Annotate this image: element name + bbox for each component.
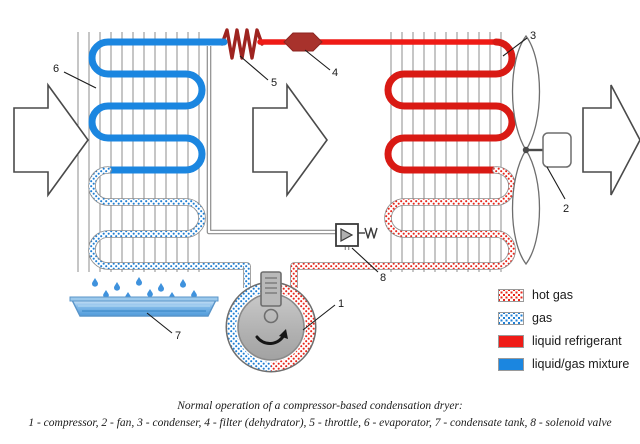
legend-item-hot-gas: hot gas [498,286,640,305]
callout-6: 6 [53,63,96,88]
legend-swatch-liquid-refrigerant [498,335,524,348]
legend-item-gas: gas [498,309,640,328]
caption-line-2: 1 - compressor, 2 - fan, 3 - condenser, … [0,415,640,432]
fan [513,36,572,264]
callout-2: 2 [547,167,569,215]
legend-label-hot-gas: hot gas [532,289,573,302]
callout-label-6: 6 [53,63,59,75]
legend-label-gas: gas [532,312,552,325]
airflow-arrow-inlet [14,85,88,195]
condensate-tank [70,297,218,316]
callout-7: 7 [147,313,181,342]
caption-line-1: Normal operation of a compressor-based c… [0,398,640,415]
airflow-arrow-outlet [583,85,640,195]
callout-4: 4 [305,50,338,79]
legend-label-liquid-gas-mixture: liquid/gas mixture [532,358,629,371]
legend-label-liquid-refrigerant: liquid refrigerant [532,335,622,348]
caption: Normal operation of a compressor-based c… [0,398,640,432]
callout-label-3: 3 [530,30,536,42]
callout-label-5: 5 [271,77,277,89]
legend-item-liquid-refrigerant: liquid refrigerant [498,332,640,351]
legend-swatch-liquid-gas-mixture [498,358,524,371]
evaporator-coil-gas-section [92,170,247,266]
airflow-arrow-middle [253,85,327,195]
diagram-canvas: 1 2 3 4 5 6 7 8 [0,0,640,444]
legend-swatch-gas [498,312,524,325]
compressor [227,266,315,371]
legend-swatch-hot-gas [498,289,524,302]
solenoid-valve[interactable] [336,224,377,246]
callout-label-2: 2 [563,203,569,215]
filter-dehydrator-body [284,33,322,51]
throttle-coil [222,30,262,58]
callout-label-7: 7 [175,330,181,342]
legend: hot gas gas liquid refrigerant liquid/ga… [498,286,640,378]
callout-label-8: 8 [380,272,386,284]
legend-item-liquid-gas-mixture: liquid/gas mixture [498,355,640,374]
condenser-coil-liquid-section [388,42,512,170]
callout-5: 5 [240,56,277,89]
callout-label-4: 4 [332,67,338,79]
callout-label-1: 1 [338,298,344,310]
